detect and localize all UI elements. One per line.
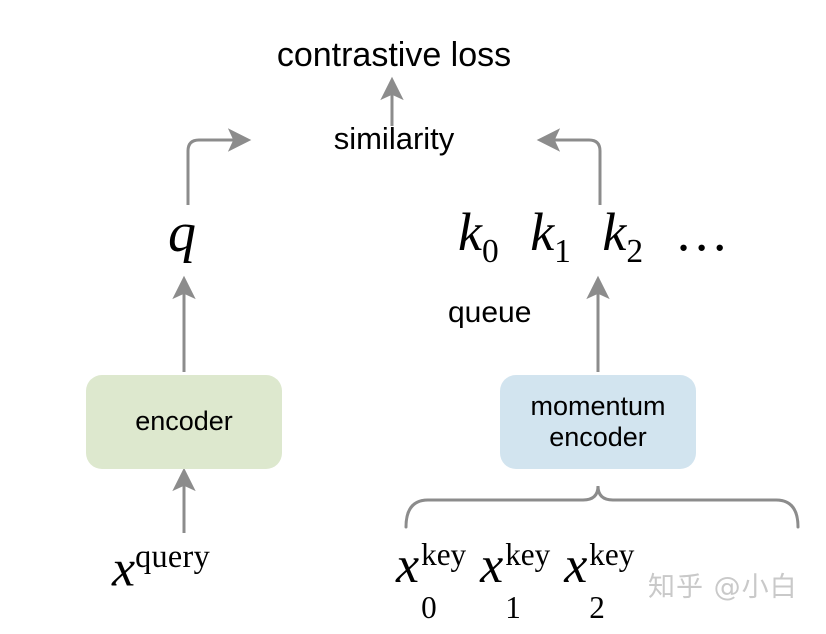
- key-input-sub-1: 1: [505, 592, 521, 623]
- key-representations-row: k0 k1 k2 …: [458, 205, 731, 268]
- diagram-canvas: contrastive loss similarity queue q k0 k…: [0, 0, 826, 634]
- q-glyph: q: [168, 202, 196, 264]
- key-input-sub-0: 0: [421, 592, 437, 623]
- key-input-sup-1: key: [505, 539, 550, 570]
- zhihu-watermark: 知乎 @小白: [648, 565, 798, 604]
- encoder-box-label: encoder: [135, 406, 233, 437]
- query-representation-symbol: q: [168, 205, 196, 261]
- key-input-symbol-2: xkey2: [564, 537, 587, 594]
- encoder-box: encoder: [86, 375, 282, 469]
- key-input-sub-2: 2: [589, 592, 605, 623]
- similarity-label: similarity: [0, 123, 788, 154]
- momentum-encoder-box: momentum encoder: [500, 375, 696, 469]
- momentum-encoder-box-label: momentum encoder: [530, 391, 665, 453]
- query-input-symbol: xquery: [112, 540, 210, 595]
- key-symbol-0: k0: [458, 202, 499, 262]
- contrastive-loss-label: contrastive loss: [0, 38, 788, 72]
- key-input-sup-0: key: [421, 539, 466, 570]
- queue-label: queue: [448, 298, 531, 328]
- key-ellipsis: …: [675, 202, 731, 262]
- momentum-encoder-line2: encoder: [549, 422, 647, 452]
- key-input-symbol-0: xkey0: [396, 537, 419, 594]
- key-input-sup-2: key: [589, 539, 634, 570]
- key-inputs-row: xkey0 xkey1 xkey2: [396, 540, 635, 592]
- key-inputs-brace: [406, 486, 798, 527]
- key-input-symbol-1: xkey1: [480, 537, 503, 594]
- momentum-encoder-line1: momentum: [530, 391, 665, 421]
- key-symbol-1: k1: [530, 202, 571, 262]
- key-symbol-2: k2: [602, 202, 643, 262]
